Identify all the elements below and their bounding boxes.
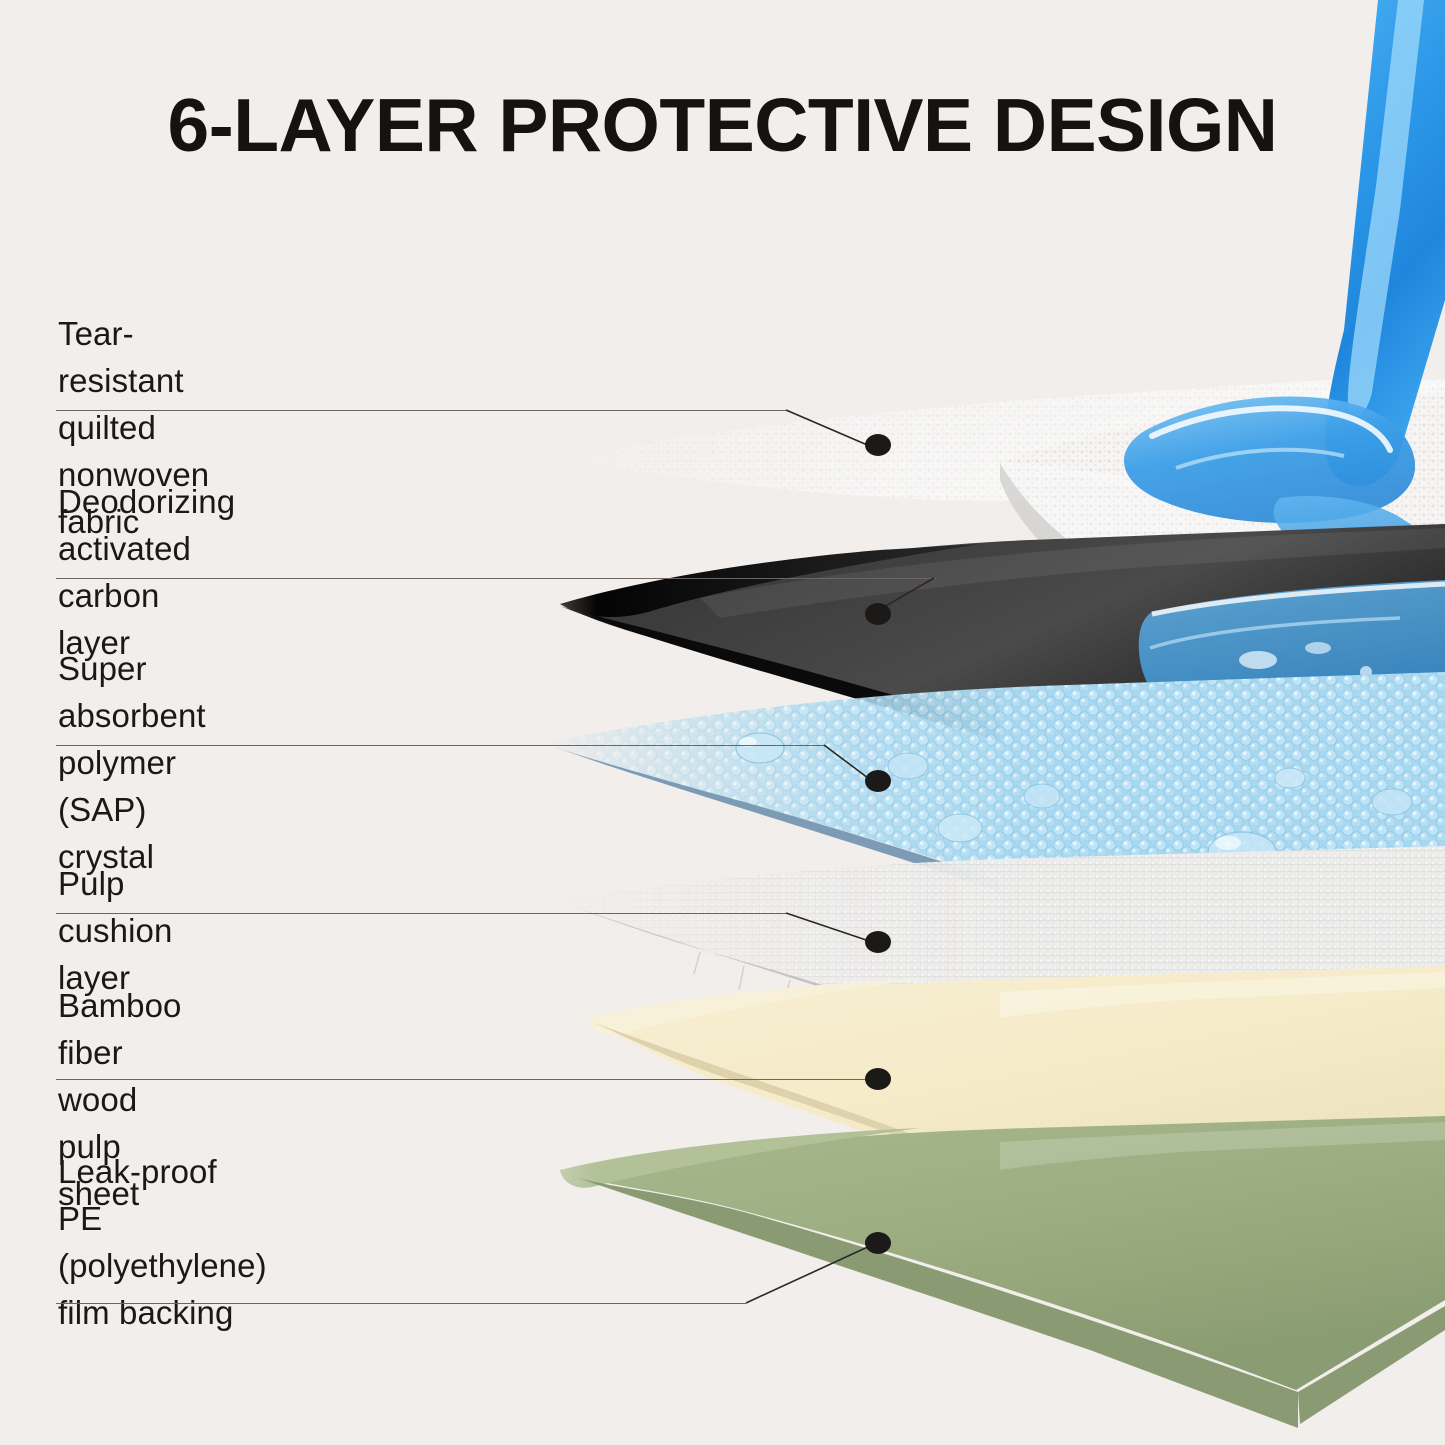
callout-dot-pe-film — [865, 1232, 891, 1254]
infographic-canvas: 6-LAYER PROTECTIVE DESIGN Tear-resistant… — [0, 0, 1445, 1445]
callout-leader-pe-film — [0, 0, 1445, 1445]
